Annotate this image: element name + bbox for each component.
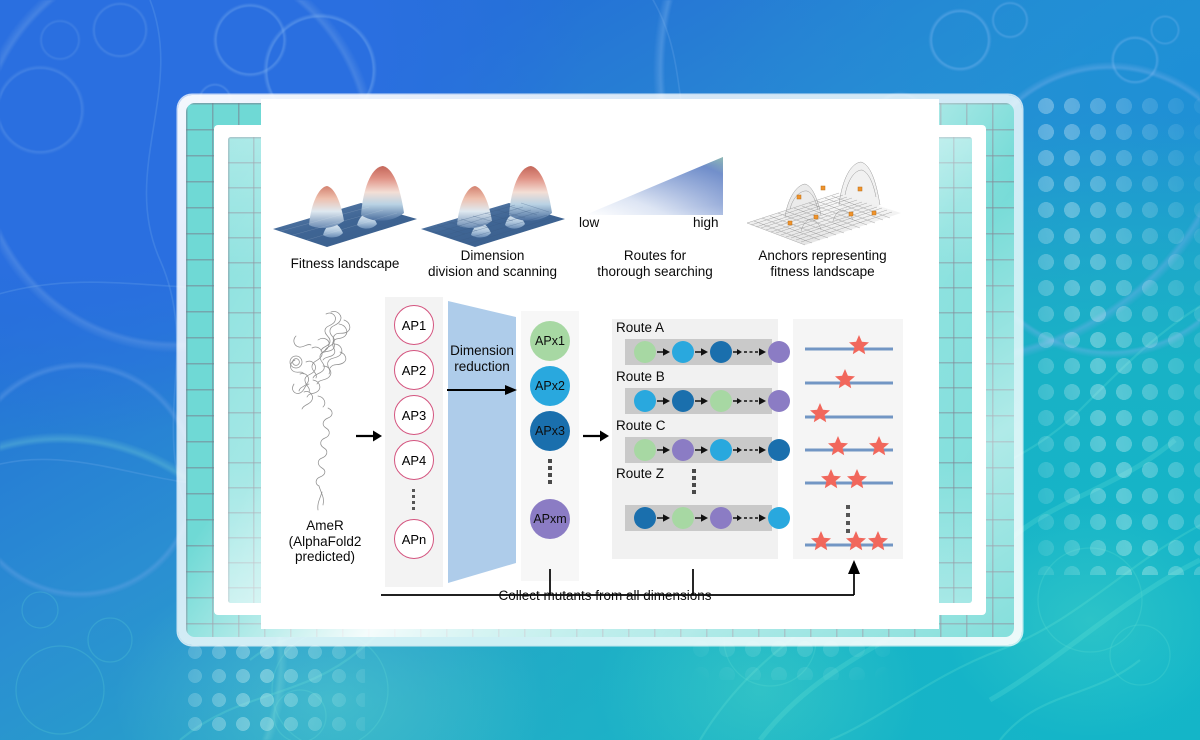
anchor-stars: [810, 335, 889, 550]
ap-circle-1[interactable]: AP1: [394, 305, 434, 345]
arrow-dimension-reduction: [447, 383, 517, 397]
gradient-scale-high-label: high: [693, 215, 719, 230]
figure-frame: low high: [178, 95, 1022, 645]
route-c-arrow-dashed: [733, 445, 767, 455]
route-c-label: Route C: [616, 418, 666, 433]
ap-circle-3[interactable]: AP3: [394, 395, 434, 435]
apx-circle-m[interactable]: APxm: [530, 499, 570, 539]
apx-circle-1[interactable]: APx1: [530, 321, 570, 361]
ap-circle-1-label: AP1: [402, 318, 427, 333]
apx-circle-1-label: APx1: [535, 334, 565, 348]
route-b-label: Route B: [616, 369, 665, 384]
route-a-label: Route A: [616, 320, 664, 335]
ap-column-panel: AP1 AP2 AP3 AP4 APn: [385, 297, 443, 587]
route-a-dot-4: [768, 341, 790, 363]
route-c-arrow-2: [695, 445, 709, 455]
route-c-dot-3: [710, 439, 732, 461]
anchors-star-chart: [793, 319, 903, 559]
ap-column-ellipsis: [412, 489, 415, 510]
apx-column-panel: APx1 APx2 APx3 APxm: [521, 311, 579, 581]
arrow-apx-to-routes: [583, 428, 609, 444]
routes-panel: Route A Route B: [612, 319, 778, 559]
dimension-division-thumbnail: [413, 163, 573, 253]
dimension-reduction-label: Dimension reduction: [442, 343, 522, 374]
fitness-landscape-thumbnail: [265, 163, 425, 253]
apx-column-ellipsis: [548, 459, 552, 484]
arrow-protein-to-ap: [356, 428, 382, 444]
route-b-dot-2: [672, 390, 694, 412]
ap-circle-2[interactable]: AP2: [394, 350, 434, 390]
collect-bracket: [275, 557, 925, 612]
route-a-arrow-1: [657, 347, 671, 357]
route-b-arrow-2: [695, 396, 709, 406]
route-c-dot-1: [634, 439, 656, 461]
routes-ellipsis: [692, 469, 696, 494]
route-a-dot-2: [672, 341, 694, 363]
ap-circle-n[interactable]: APn: [394, 519, 434, 559]
apx-circle-2[interactable]: APx2: [530, 366, 570, 406]
route-a-arrow-2: [695, 347, 709, 357]
caption-anchors-landscape: Anchors representing fitness landscape: [735, 248, 910, 279]
route-b-arrow-dashed: [733, 396, 767, 406]
apx-circle-3[interactable]: APx3: [530, 411, 570, 451]
route-a-band[interactable]: [625, 339, 772, 365]
route-a-dot-3: [710, 341, 732, 363]
anchors-landscape-thumbnail: [735, 157, 910, 249]
route-b-dot-3: [710, 390, 732, 412]
ap-circle-4[interactable]: AP4: [394, 440, 434, 480]
route-z-arrow-1: [657, 513, 671, 523]
gradient-scale-low-label: low: [579, 215, 599, 230]
ap-circle-4-label: AP4: [402, 453, 427, 468]
route-z-label: Route Z: [616, 466, 664, 481]
route-b-arrow-1: [657, 396, 671, 406]
route-a-dot-1: [634, 341, 656, 363]
route-z-dot-4: [768, 507, 790, 529]
route-z-arrow-dashed: [733, 513, 767, 523]
routes-gradient-thumbnail: low high: [575, 153, 735, 236]
route-z-arrow-2: [695, 513, 709, 523]
apx-circle-2-label: APx2: [535, 379, 565, 393]
route-b-dot-4: [768, 390, 790, 412]
anchors-ellipsis: [846, 505, 850, 533]
anchors-result-panel: [793, 319, 903, 559]
route-a-arrow-dashed: [733, 347, 767, 357]
route-c-dot-4: [768, 439, 790, 461]
route-c-band[interactable]: [625, 437, 772, 463]
route-z-dot-3: [710, 507, 732, 529]
caption-dimension-division: Dimension division and scanning: [415, 248, 570, 279]
route-b-band[interactable]: [625, 388, 772, 414]
ap-circle-3-label: AP3: [402, 408, 427, 423]
apx-circle-m-label: APxm: [533, 512, 566, 526]
apx-circle-3-label: APx3: [535, 424, 565, 438]
route-z-dot-1: [634, 507, 656, 529]
route-z-dot-2: [672, 507, 694, 529]
route-c-arrow-1: [657, 445, 671, 455]
caption-fitness-landscape: Fitness landscape: [270, 256, 420, 272]
ap-circle-2-label: AP2: [402, 363, 427, 378]
protein-structure-icon: [282, 300, 372, 515]
route-c-dot-2: [672, 439, 694, 461]
route-b-dot-1: [634, 390, 656, 412]
figure-content: low high: [275, 125, 925, 615]
route-z-band[interactable]: [625, 505, 772, 531]
ap-circle-n-label: APn: [402, 532, 427, 547]
collect-mutants-label: Collect mutants from all dimensions: [405, 588, 805, 603]
caption-routes-gradient: Routes for thorough searching: [580, 248, 730, 279]
